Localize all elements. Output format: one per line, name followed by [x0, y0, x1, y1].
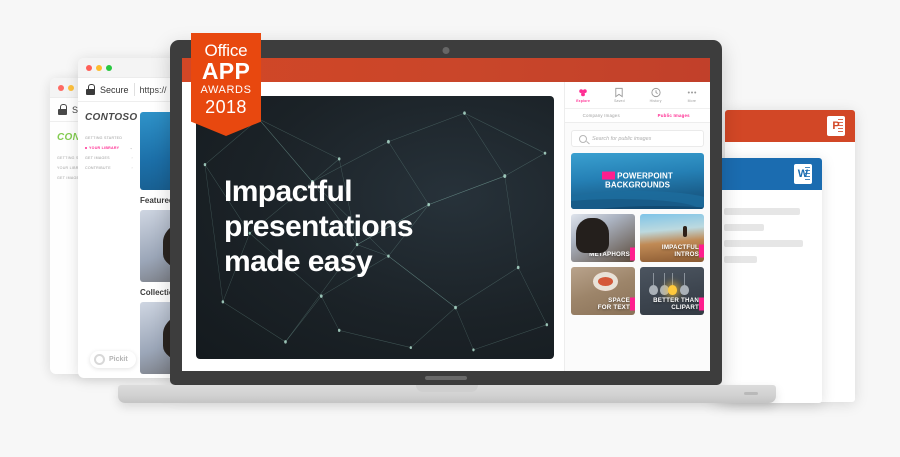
- award-line-awards: AWARDS: [191, 83, 261, 98]
- pickit-label: Pickit: [109, 356, 128, 363]
- card-grid: METAPHORS IMPACTFUL INTROS: [571, 214, 704, 315]
- image-card-list: POWERPOINT BACKGROUNDS METAPHORS: [565, 153, 710, 315]
- chevron-right-icon: ›: [132, 166, 133, 170]
- tab-label: Saved: [614, 99, 625, 103]
- sidebar-item-label: CONTRIBUTE: [85, 166, 111, 170]
- close-dot-icon[interactable]: [58, 85, 64, 91]
- contoso-logo: CONTOSO: [85, 112, 133, 123]
- slide-title-line-2: presentations: [224, 210, 413, 245]
- panel-tab-row: Explore Saved: [565, 82, 710, 108]
- laptop-lid-notch: [425, 376, 467, 380]
- tab-label: More: [688, 99, 697, 103]
- sidebar-item-contribute[interactable]: CONTRIBUTE ›: [85, 166, 133, 170]
- skeleton-line: [724, 224, 764, 231]
- card-powerpoint-backgrounds[interactable]: POWERPOINT BACKGROUNDS: [571, 153, 704, 209]
- word-icon: W: [794, 164, 812, 184]
- accent-marker: [699, 244, 704, 257]
- sidebar-item-label: GET IMAGES: [85, 156, 110, 160]
- powerpoint-icon: P: [827, 116, 845, 136]
- card-caption: IMPACTFUL INTROS: [644, 244, 699, 258]
- maximize-dot-icon[interactable]: [106, 65, 112, 71]
- tab-label: Explore: [576, 99, 590, 103]
- card-caption: SPACE FOR TEXT: [575, 297, 630, 311]
- sidebar-item-get-images[interactable]: GET IMAGES ›: [85, 156, 133, 160]
- caption-line-1: BETTER THAN: [644, 297, 699, 304]
- award-line-app: APP: [191, 59, 261, 83]
- laptop-base-notch: [416, 385, 478, 392]
- slide-title: Impactful presentations made easy: [196, 175, 413, 279]
- caption-line-1: IMPACTFUL: [644, 244, 699, 251]
- bullet-icon: [85, 147, 87, 149]
- sidebar-nav: GETTING STARTED YOUR LIBRARY ⌄ GET IMAGE…: [85, 136, 133, 170]
- lock-icon: [86, 84, 95, 95]
- lock-icon: [58, 104, 67, 115]
- scene: S CONTO GETTING ST... YOUR LIBR... GET I…: [0, 0, 900, 457]
- caption-line-2: FOR TEXT: [575, 304, 630, 311]
- sidebar-item-your-library[interactable]: YOUR LIBRARY ⌄: [85, 146, 133, 150]
- app-body: Impactful presentations made easy: [182, 82, 710, 371]
- chevron-right-icon: ›: [132, 156, 133, 160]
- tab-explore[interactable]: Explore: [565, 82, 601, 108]
- accent-marker: [630, 248, 635, 261]
- accent-marker: [630, 297, 635, 310]
- accent-marker: [699, 297, 704, 310]
- panel-subtab-row: Company Images Public Images: [565, 108, 710, 123]
- address-bar-divider: [134, 83, 135, 96]
- bookmark-icon: [613, 87, 625, 98]
- minimize-dot-icon[interactable]: [96, 65, 102, 71]
- skeleton-line: [724, 240, 803, 247]
- sidebar-item-label: YOUR LIBRARY: [89, 146, 119, 150]
- tab-label: History: [650, 99, 662, 103]
- word-document-skeleton: [712, 190, 822, 263]
- secure-label: Secure: [100, 85, 129, 95]
- tab-history[interactable]: History: [638, 82, 674, 108]
- search-icon: [579, 135, 587, 143]
- card-better-than-clipart[interactable]: BETTER THAN CLIPART: [640, 267, 704, 315]
- sidebar: CONTOSO GETTING STARTED YOUR LIBRARY ⌄ G…: [78, 102, 140, 378]
- caption-line-2: INTROS: [644, 251, 699, 258]
- laptop-base-marker: [744, 392, 758, 395]
- subtab-public-images[interactable]: Public Images: [638, 113, 711, 118]
- search-placeholder: Search for public images: [592, 136, 651, 142]
- tab-more[interactable]: More: [674, 82, 710, 108]
- office-app-awards-badge: Office APP AWARDS 2018: [191, 33, 261, 136]
- powerpoint-titlebar: P: [725, 110, 855, 142]
- clock-icon: [650, 87, 662, 98]
- laptop-base: [118, 385, 776, 403]
- skeleton-line: [724, 256, 757, 263]
- pickit-badge[interactable]: Pickit: [90, 351, 136, 368]
- presentation-slide[interactable]: Impactful presentations made easy: [196, 96, 554, 359]
- card-caption: POWERPOINT BACKGROUNDS: [571, 172, 704, 191]
- pickit-logo-icon: [94, 354, 105, 365]
- accent-marker: [602, 172, 615, 180]
- more-dots-icon: [686, 87, 698, 98]
- url-text[interactable]: https://: [140, 85, 167, 95]
- award-line-office: Office: [191, 42, 261, 59]
- card-metaphors[interactable]: METAPHORS: [571, 214, 635, 262]
- card-impactful-intros[interactable]: IMPACTFUL INTROS: [640, 214, 704, 262]
- explore-icon: [577, 87, 589, 98]
- search-input[interactable]: Search for public images: [571, 130, 704, 147]
- award-line-year: 2018: [191, 98, 261, 118]
- webcam-icon: [443, 47, 450, 54]
- caption-line-1: METAPHORS: [589, 251, 630, 258]
- image-picker-panel: Explore Saved: [564, 82, 710, 371]
- caption-line-2: BACKGROUNDS: [571, 182, 704, 191]
- caption-line-2: CLIPART: [644, 304, 699, 311]
- sidebar-item-getting-started[interactable]: GETTING STARTED: [85, 136, 133, 140]
- laptop-screen: Impactful presentations made easy: [182, 58, 710, 371]
- word-titlebar: W: [712, 158, 822, 190]
- sidebar-item-label: GETTING STARTED: [85, 136, 122, 140]
- card-caption: METAPHORS: [575, 251, 630, 258]
- subtab-company-images[interactable]: Company Images: [565, 113, 638, 118]
- slide-title-line-1: Impactful: [224, 175, 413, 210]
- card-caption: BETTER THAN CLIPART: [644, 297, 699, 311]
- slide-title-line-3: made easy: [224, 245, 413, 280]
- close-dot-icon[interactable]: [86, 65, 92, 71]
- minimize-dot-icon[interactable]: [68, 85, 74, 91]
- tab-saved[interactable]: Saved: [601, 82, 637, 108]
- card-space-for-text[interactable]: SPACE FOR TEXT: [571, 267, 635, 315]
- powerpoint-ribbon[interactable]: [182, 58, 710, 82]
- skeleton-line: [724, 208, 800, 215]
- chevron-down-icon: ⌄: [130, 146, 133, 150]
- word-window[interactable]: W: [712, 158, 822, 403]
- caption-line-1: SPACE: [575, 297, 630, 304]
